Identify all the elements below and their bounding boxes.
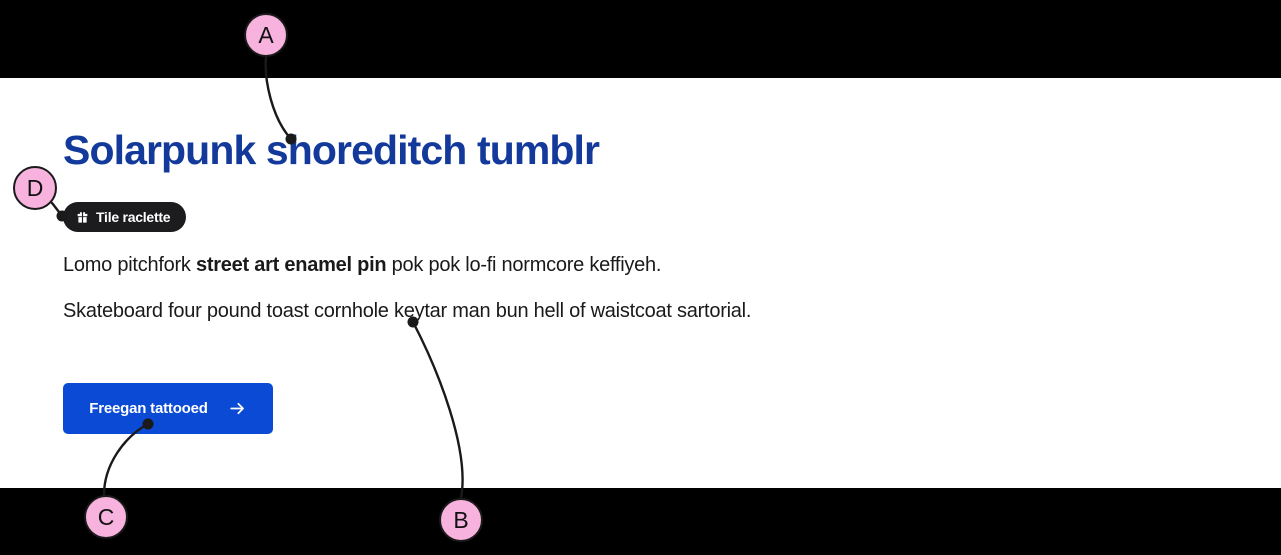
screenshot-stage: Solarpunk shoreditch tumblr Tile raclett… [0,0,1281,555]
arrow-right-icon [228,399,247,418]
para2-seg1: Skateboard four pound toast cornhole key… [63,300,751,322]
body-paragraph-2: Skateboard four pound toast cornhole key… [63,294,783,328]
annotation-marker-a-label: A [258,22,273,49]
annotation-marker-c[interactable]: C [84,495,128,539]
page-content: Solarpunk shoreditch tumblr Tile raclett… [0,78,1281,488]
annotation-marker-b-label: B [453,507,468,534]
annotation-marker-d-label: D [27,175,44,202]
annotation-marker-a[interactable]: A [244,13,288,57]
annotation-marker-c-label: C [98,504,115,531]
body-paragraph-1: Lomo pitchfork street art enamel pin pok… [63,248,783,282]
badge-tile-raclette[interactable]: Tile raclette [63,202,186,232]
letterbox-bottom [0,488,1281,555]
badge-label: Tile raclette [96,209,170,225]
letterbox-top [0,0,1281,78]
para1-seg1: Lomo pitchfork [63,254,196,276]
cta-freegan-tattooed-button[interactable]: Freegan tattooed [63,383,273,434]
cta-label: Freegan tattooed [89,400,207,417]
para1-seg3: pok pok lo-fi normcore keffiyeh. [386,254,661,276]
page-title: Solarpunk shoreditch tumblr [63,127,599,173]
gift-icon [76,211,89,224]
annotation-marker-b[interactable]: B [439,498,483,542]
para1-seg2-bold: street art enamel pin [196,254,386,276]
annotation-marker-d[interactable]: D [13,166,57,210]
